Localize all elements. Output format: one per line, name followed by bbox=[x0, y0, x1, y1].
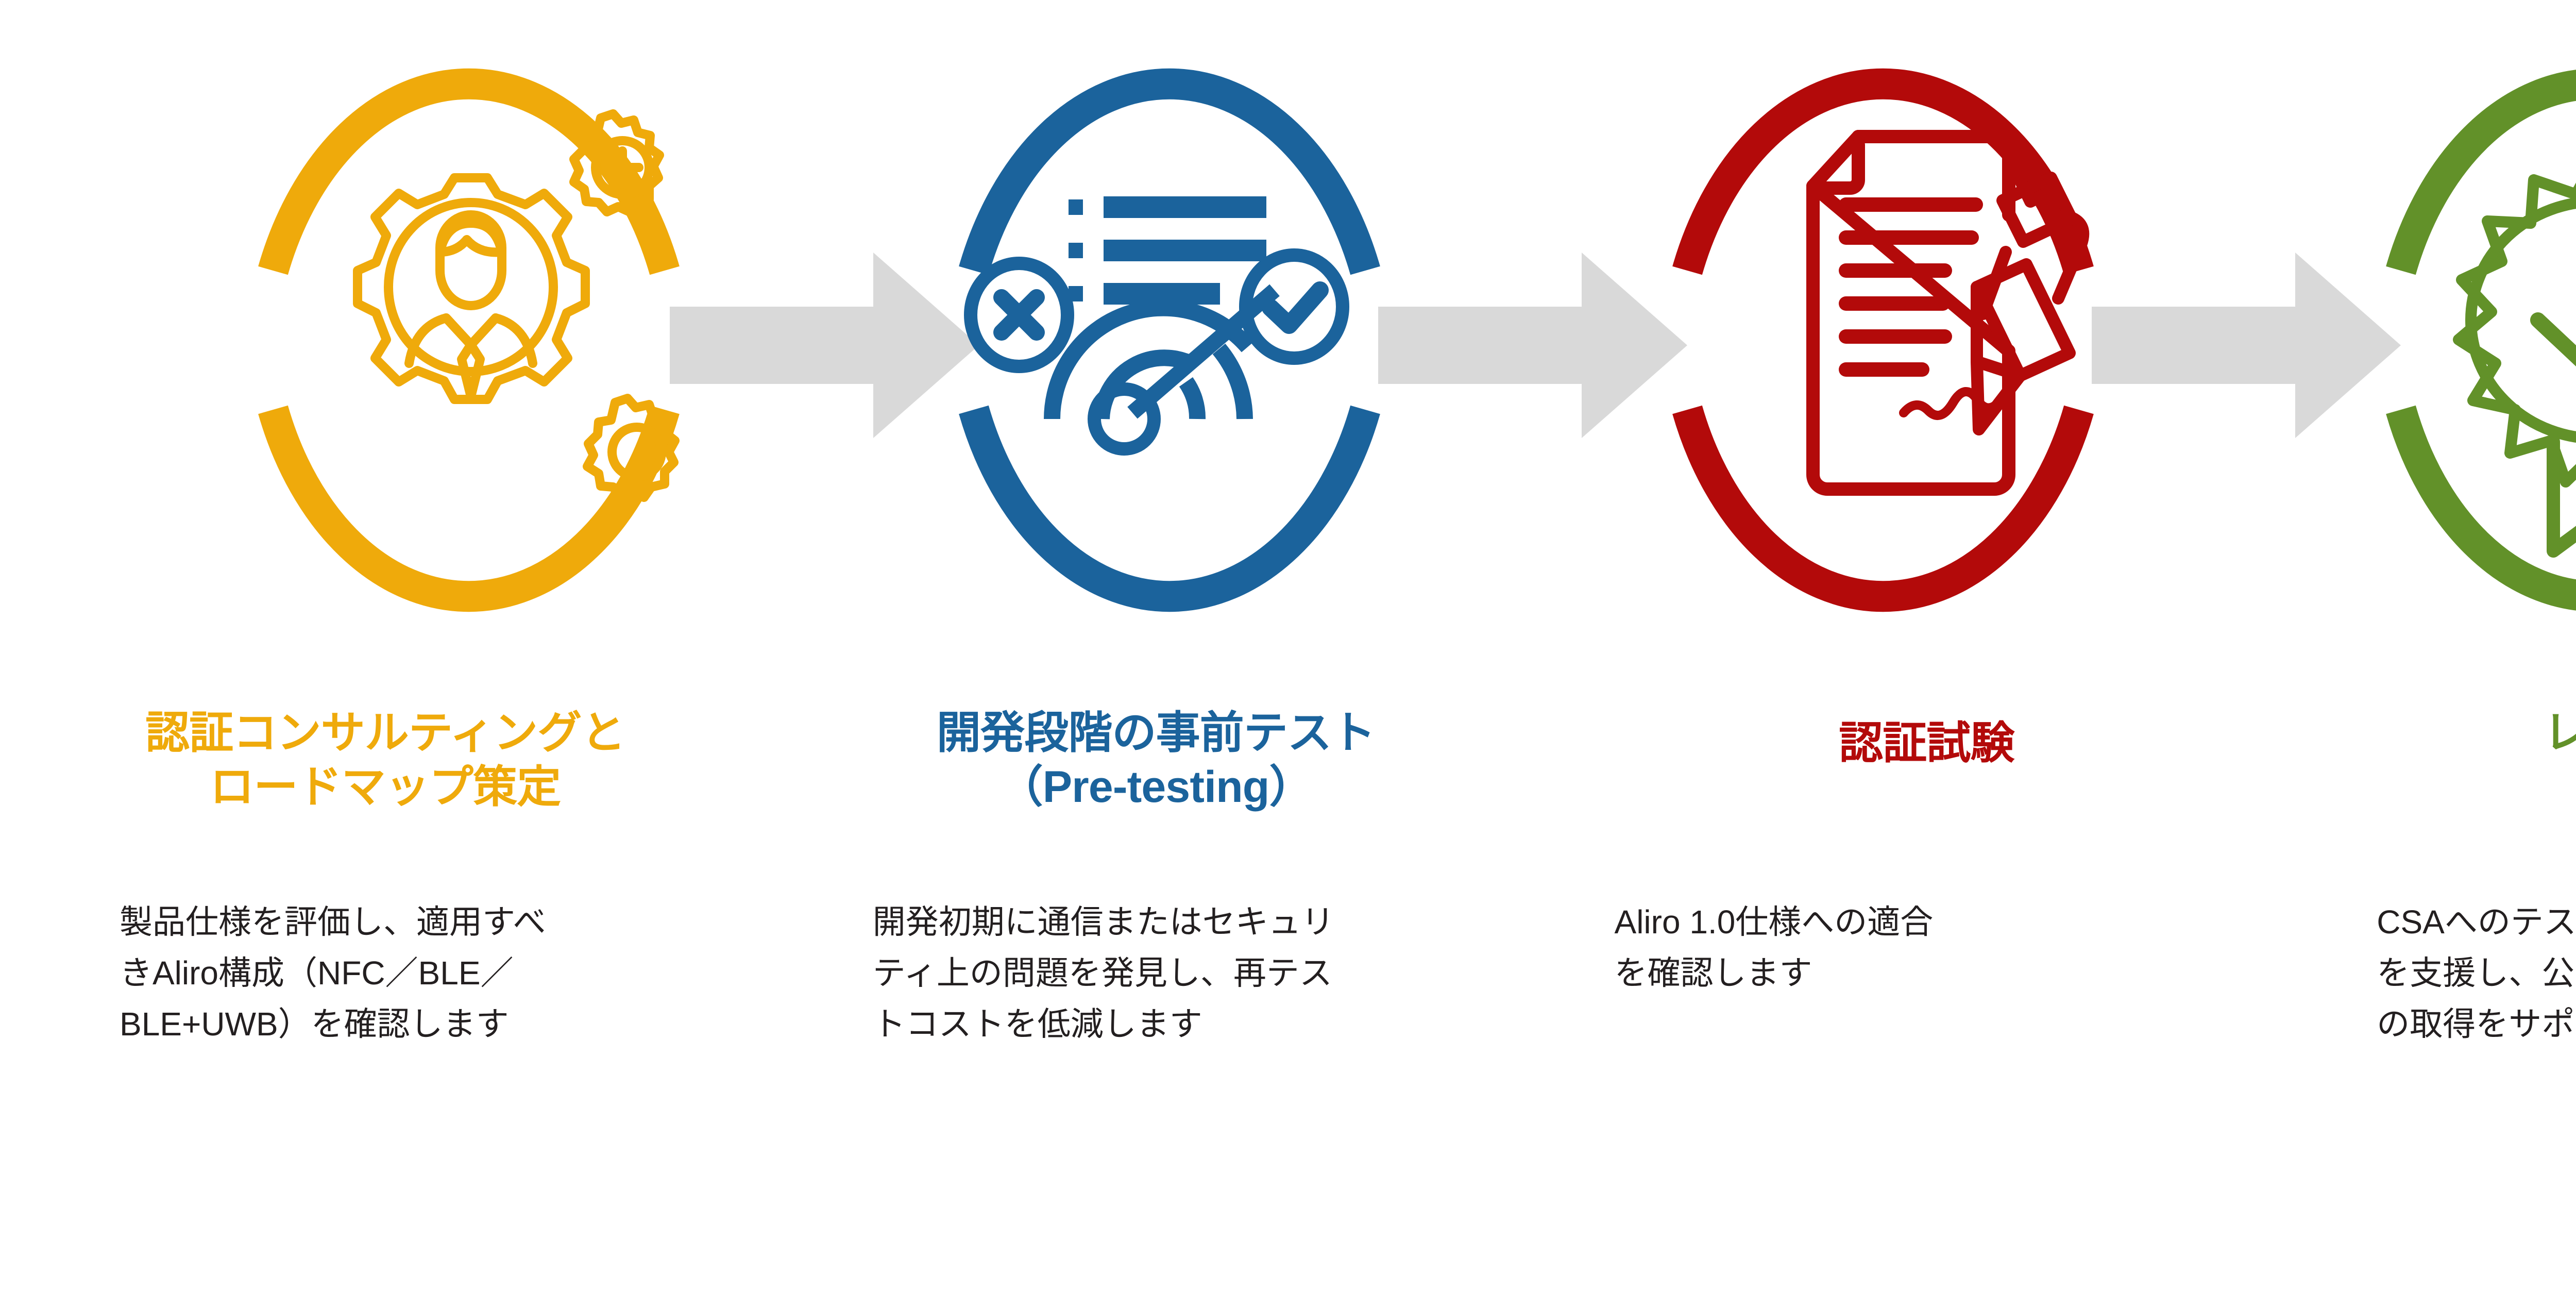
step-icon-circle-1 bbox=[242, 23, 696, 657]
circle-layer bbox=[0, 0, 2576, 685]
step-icon-circle-4 bbox=[2370, 23, 2576, 657]
step-column-2: 開発段階の事前テスト （Pre-testing） 開発初期に通信またはセキュリ … bbox=[771, 685, 1541, 1308]
step-icon-circle-2 bbox=[943, 23, 1396, 657]
icon-band bbox=[0, 0, 2576, 685]
step-column-1: 認証コンサルティングと ロードマップ策定 製品仕様を評価し、適用すべ きAlir… bbox=[0, 685, 771, 1308]
step-icon-circle-3 bbox=[1656, 23, 2110, 657]
gears-consultant-icon bbox=[358, 114, 675, 497]
steps-text-row: 認証コンサルティングと ロードマップ策定 製品仕様を評価し、適用すべ きAlir… bbox=[0, 685, 2576, 1308]
step-body-4: CSAへのテストレポートの提出 を支援し、公式認証証明書 の取得をサポートします bbox=[2377, 897, 2576, 1050]
step-body-3: Aliro 1.0仕様への適合 を確認します bbox=[1615, 897, 2284, 999]
step-title-3: 認証試験 bbox=[1541, 716, 2312, 770]
gauge-pretest-icon bbox=[971, 196, 1343, 449]
step-column-3: 認証試験 Aliro 1.0仕様への適合 を確認します bbox=[1541, 685, 2312, 1308]
award-badge-check-icon bbox=[2459, 157, 2576, 551]
process-flow-diagram: 認証コンサルティングと ロードマップ策定 製品仕様を評価し、適用すべ きAlir… bbox=[0, 0, 2576, 1308]
step-title-2: 開発段階の事前テスト （Pre-testing） bbox=[771, 706, 1541, 814]
step-title-4: レポート提出と 認証取得 bbox=[2312, 706, 2576, 814]
document-pen-icon bbox=[1813, 137, 2083, 489]
step-column-4: レポート提出と 認証取得 CSAへのテストレポートの提出 を支援し、公式認証証明… bbox=[2312, 685, 2576, 1308]
step-body-2: 開発初期に通信またはセキュリ ティ上の問題を発見し、再テス トコストを低減します bbox=[873, 897, 1543, 1050]
step-body-1: 製品仕様を評価し、適用すべ きAliro構成（NFC／BLE／ BLE+UWB）… bbox=[120, 897, 774, 1050]
step-title-1: 認証コンサルティングと ロードマップ策定 bbox=[0, 706, 771, 814]
